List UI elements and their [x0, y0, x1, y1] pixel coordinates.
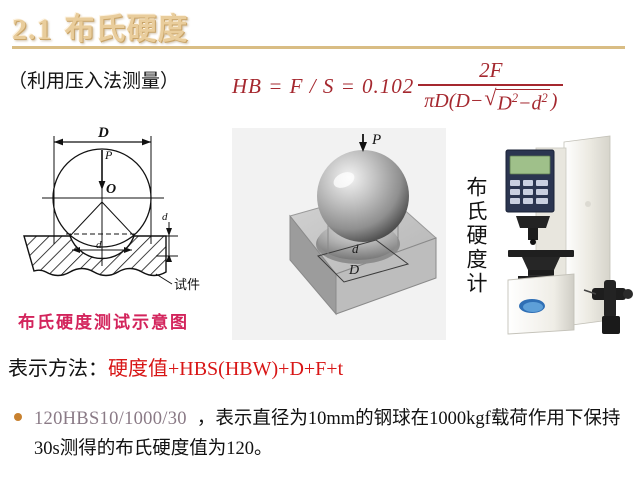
formula-fraction: 2F πD(D− √ D2−d2 ): [418, 58, 563, 116]
title-divider: [12, 46, 625, 49]
svg-text:P: P: [371, 132, 381, 148]
example-part4: 测得的布氏硬度值为: [60, 437, 227, 458]
notation-value: 硬度值+HBS(HBW)+D+F+t: [108, 358, 343, 380]
formula-denominator-suffix: ): [551, 90, 558, 113]
example-part1: ，表示直径为: [197, 407, 308, 428]
example-num4: 120: [226, 439, 254, 459]
example-num2: 1000kgf: [429, 409, 491, 429]
formula-lhs: HB = F / S = 0.102: [232, 74, 414, 99]
example-bullet-row: 120HBS10/1000/30，表示直径为10mm的钢球在1000kgf载荷作…: [10, 404, 632, 463]
formula-numerator: 2F: [469, 58, 512, 84]
svg-text:D: D: [97, 126, 109, 141]
title-text: 布氏硬度: [65, 13, 189, 46]
example-text: 120HBS10/1000/30，表示直径为10mm的钢球在1000kgf载荷作…: [34, 404, 632, 463]
example-num1: 10mm: [308, 409, 355, 429]
formula-denominator-prefix: πD(D−: [424, 90, 483, 113]
formula-radical: √ D2−d2: [484, 88, 549, 116]
example-part3: 载荷作用下保持: [491, 407, 621, 428]
title-number: 2.1: [12, 13, 53, 46]
svg-text:D: D: [348, 263, 359, 278]
svg-text:P: P: [104, 148, 113, 162]
example-part2: 的钢球在: [355, 407, 429, 428]
machine-label: 布氏硬度计: [460, 176, 490, 296]
page-title: 2.1布氏硬度: [12, 4, 189, 48]
notation-label: 表示方法：: [8, 358, 108, 380]
bullet-dot-icon: [14, 413, 22, 421]
svg-text:d: d: [162, 211, 168, 223]
svg-text:d: d: [352, 241, 359, 256]
svg-text:O: O: [106, 182, 116, 197]
radical-body: D2−d2: [496, 89, 549, 116]
hardness-formula: HB = F / S = 0.102 2F πD(D− √ D2−d2 ): [232, 58, 563, 116]
schematic-caption: 布氏硬度测试示意图: [18, 308, 189, 333]
slide-root: 2.1布氏硬度 （利用压入法测量） HB = F / S = 0.102 2F …: [0, 0, 640, 480]
subtitle: （利用压入法测量）: [8, 66, 179, 93]
brinell-schematic-diagram: D P O d: [6, 126, 228, 312]
brinell-tester-photo: [492, 130, 640, 340]
example-end: 。: [254, 437, 273, 458]
indentation-3d-illustration: P d D: [232, 128, 446, 340]
svg-text:d: d: [96, 239, 102, 251]
radical-sign: √: [484, 88, 496, 108]
notation-method-line: 表示方法：硬度值+HBS(HBW)+D+F+t: [8, 352, 343, 381]
example-code: 120HBS10/1000/30: [34, 409, 187, 429]
formula-denominator: πD(D− √ D2−d2 ): [418, 86, 563, 116]
example-num3: 30s: [34, 439, 60, 459]
svg-text:试件: 试件: [174, 277, 200, 292]
